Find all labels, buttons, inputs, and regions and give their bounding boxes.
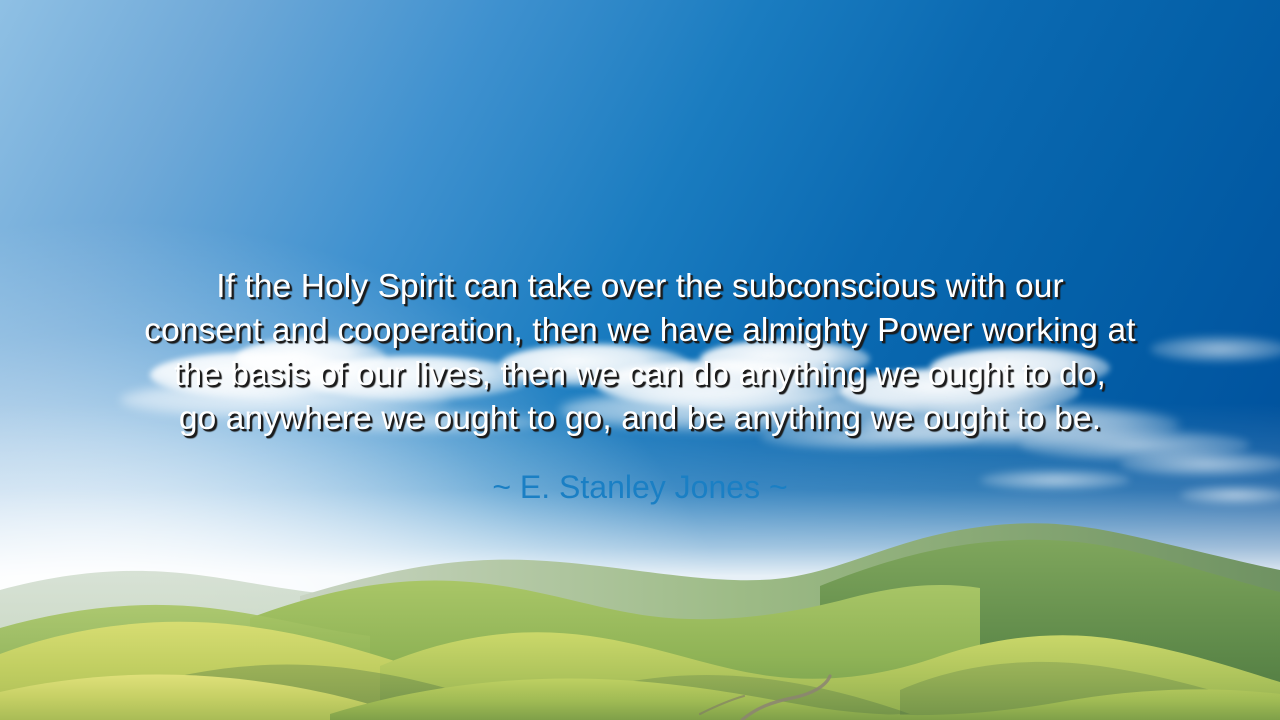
quote-line: If the Holy Spirit can take over the sub… <box>0 265 1280 309</box>
quote-line: go anywhere we ought to go, and be anyth… <box>0 397 1280 441</box>
quote-text: If the Holy Spirit can take over the sub… <box>0 265 1280 441</box>
quote-attribution: ~ E. Stanley Jones ~ <box>0 467 1280 507</box>
quote-line: the basis of our lives, then we can do a… <box>0 353 1280 397</box>
quote-wallpaper: If the Holy Spirit can take over the sub… <box>0 0 1280 720</box>
rolling-hills <box>0 478 1280 720</box>
quote-line: consent and cooperation, then we have al… <box>0 309 1280 353</box>
